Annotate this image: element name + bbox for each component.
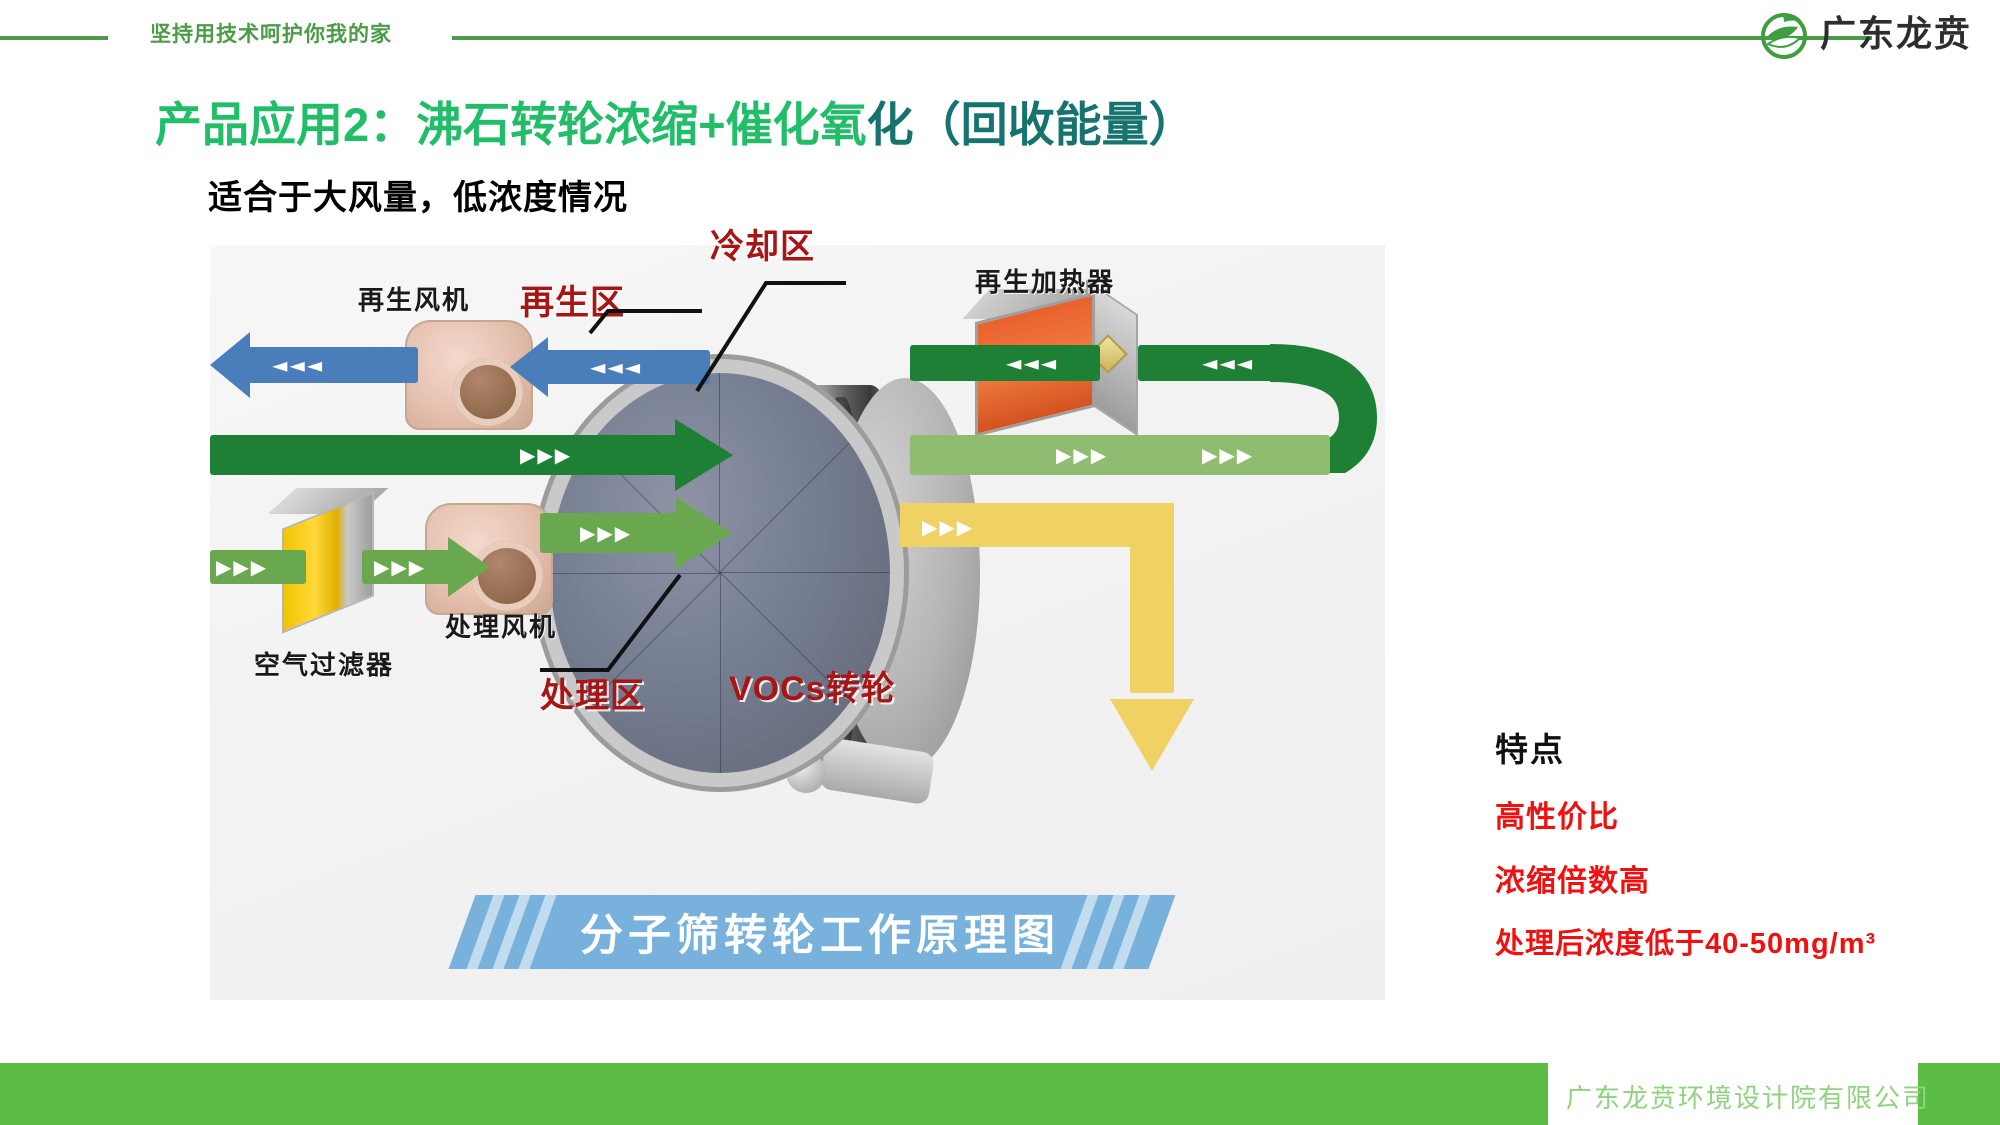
- diagram-caption-text: 分子筛转轮工作原理图: [500, 901, 1140, 963]
- page-title: 产品应用2：沸石转轮浓缩+催化氧化（回收能量）: [155, 86, 1196, 155]
- page-subtitle: 适合于大风量，低浓度情况: [208, 170, 628, 219]
- label-leader-lines: [210, 245, 1385, 1000]
- footer-bar-right: [1918, 1063, 2000, 1125]
- brand-logo: 广东龙贲: [1758, 8, 1972, 60]
- leaf-circle-logo-icon: [1758, 8, 1810, 60]
- feature-item: 浓缩倍数高: [1495, 856, 1650, 900]
- feature-item: 处理后浓度低于40-50mg/m³: [1495, 920, 1876, 962]
- page-title-teal: 化（回收能量）: [867, 98, 1196, 151]
- process-diagram: ◄◄◄ ◄◄◄ ▶▶▶ ◄◄◄ ◄◄◄ ▶▶▶: [210, 245, 1385, 1000]
- features-title: 特点: [1495, 723, 1565, 771]
- footer-bar-left: [0, 1063, 1548, 1125]
- feature-item: 高性价比: [1495, 792, 1619, 836]
- slide-root: 坚持用技术呵护你我的家 广东龙贲 产品应用2：沸石转轮浓缩+催化氧化（回收能量）…: [0, 0, 2000, 1125]
- footer-company-name: 广东龙贲环境设计院有限公司: [1566, 1078, 1930, 1115]
- header-tagline: 坚持用技术呵护你我的家: [150, 18, 392, 48]
- page-title-green: 产品应用2：沸石转轮浓缩+催化氧: [155, 98, 867, 151]
- header-rule-left: [0, 36, 108, 40]
- brand-logo-text: 广东龙贲: [1820, 16, 1972, 52]
- header-rule-right: [452, 36, 1872, 40]
